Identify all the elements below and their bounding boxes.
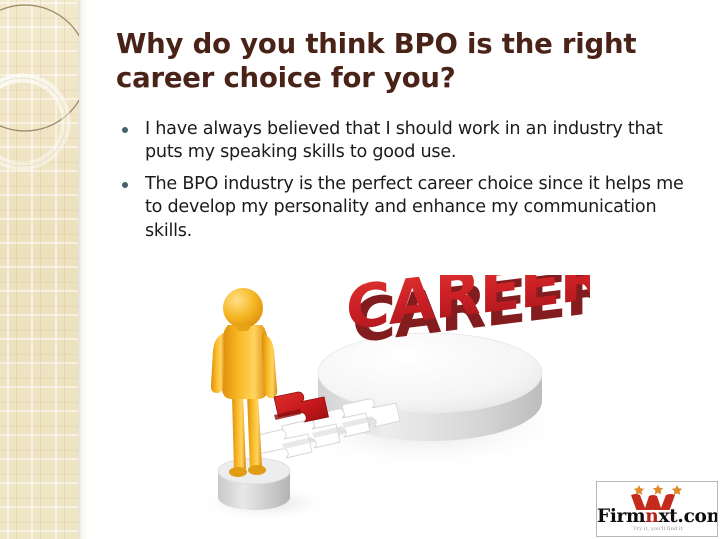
bullet-text: The BPO industry is the perfect career c… (145, 174, 684, 241)
bullet-dot-icon (122, 127, 128, 133)
bullet-text: I have always believed that I should wor… (145, 119, 663, 162)
sidebar-shadow-edge (78, 0, 92, 539)
title-line-2: career choice for you? (116, 62, 676, 96)
stars-icon (634, 485, 682, 495)
bullet-list: I have always believed that I should wor… (118, 118, 698, 251)
logo-name-suffix: xt.com (658, 506, 718, 527)
career-path-illustration: CAREER CAREER (170, 275, 590, 525)
bullet-dot-icon (122, 182, 128, 188)
logo-wordmark: Firmnxt.com (597, 506, 718, 527)
list-item: The BPO industry is the perfect career c… (118, 173, 698, 243)
logo-tagline: Try it, you'll find it (597, 526, 718, 532)
title-line-1: Why do you think BPO is the right (116, 28, 676, 62)
decorative-sidebar (0, 0, 78, 539)
presentation-slide: Why do you think BPO is the right career… (0, 0, 720, 539)
page-title: Why do you think BPO is the right career… (116, 28, 676, 95)
firmnxt-logo[interactable]: Firmnxt.com Try it, you'll find it (596, 481, 718, 537)
logo-name-accent: n (645, 506, 658, 527)
list-item: I have always believed that I should wor… (118, 118, 698, 165)
logo-name-prefix: Firm (597, 506, 645, 527)
